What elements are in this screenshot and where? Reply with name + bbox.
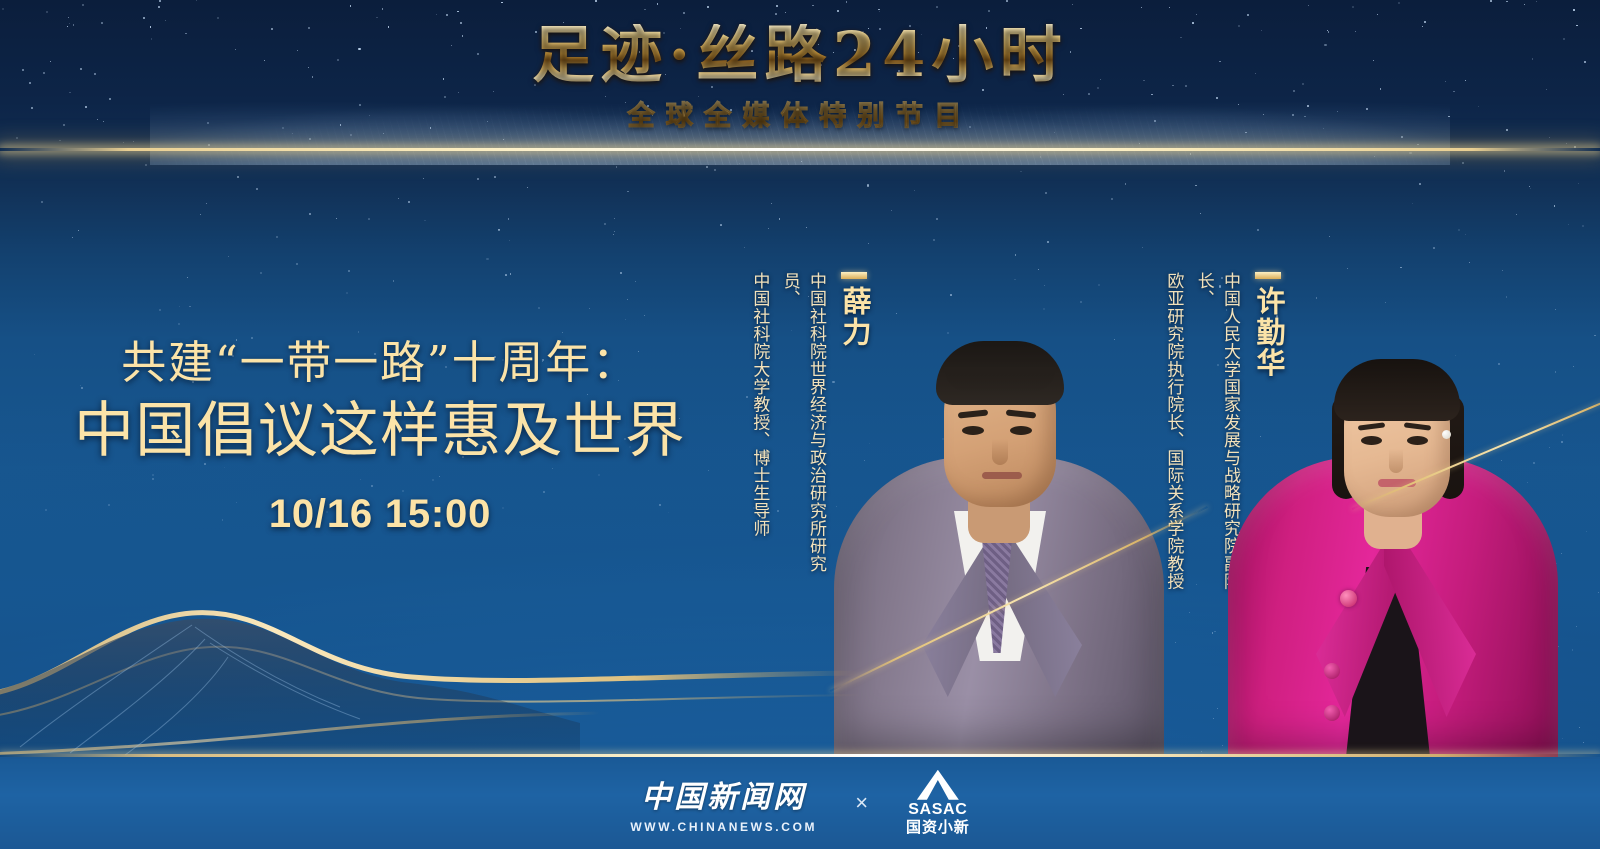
sasac-name-en: SASAC [908, 802, 967, 818]
broadcast-time: 10/16 15:00 [0, 492, 760, 537]
headline-block: 共建“一带一路”十周年： 中国倡议这样惠及世界 10/16 15:00 [0, 336, 760, 537]
eye-right [1010, 426, 1032, 435]
sasac-name-cn: 国资小新 [906, 820, 970, 837]
footer-bar: 中国新闻网 WWW.CHINANEWS.COM × SASAC 国资小新 [0, 757, 1600, 849]
headline-line-2: 中国倡议这样惠及世界 [0, 395, 760, 468]
program-subtitle: 全球全媒体特别节目 [0, 94, 1600, 133]
program-logo: 足迹·丝路24小时 全球全媒体特别节目 [0, 24, 1600, 133]
program-title: 足迹·丝路24小时 [532, 24, 1068, 86]
earring [1442, 430, 1451, 439]
gold-rule-line [0, 148, 1600, 151]
headline-line-1: 共建“一带一路”十周年： [0, 336, 760, 389]
sasac-arch-icon [917, 770, 959, 800]
button-upper [1324, 663, 1340, 679]
chinanews-logo: 中国新闻网 WWW.CHINANEWS.COM [630, 772, 817, 834]
gold-divider-top [0, 148, 1600, 168]
gold-wave-decoration [0, 547, 860, 757]
eye-left [962, 426, 984, 435]
hair [936, 341, 1064, 405]
brand-row: 中国新闻网 WWW.CHINANEWS.COM × SASAC 国资小新 [0, 757, 1600, 849]
guest-xueli-portrait [826, 192, 1171, 757]
eye-left [1361, 436, 1382, 445]
guest-xuqinhua-credentials-line-2: 欧亚研究院执行院长、国际关系学院教授 [1160, 272, 1186, 590]
guest-xueli-credentials-line-1: 中国社科院世界经济与政治研究所研究员、 [776, 272, 829, 602]
collab-separator: × [855, 790, 868, 816]
nose [1389, 449, 1403, 473]
eye-right [1407, 436, 1428, 445]
hair [1334, 359, 1460, 421]
lapel-pin [1340, 590, 1357, 607]
chinanews-name: 中国新闻网 [641, 772, 806, 816]
poster-canvas: 足迹·丝路24小时 全球全媒体特别节目 共建“一带一路”十周年： 中国倡议这样惠… [0, 0, 1600, 849]
mouth [982, 472, 1022, 479]
guest-xueli-credentials-line-2: 中国社科院大学教授、博士生导师 [746, 272, 772, 537]
sasac-logo: SASAC 国资小新 [906, 770, 970, 837]
button-lower [1324, 705, 1340, 721]
chinanews-url: WWW.CHINANEWS.COM [630, 820, 817, 834]
nose [992, 439, 1008, 465]
